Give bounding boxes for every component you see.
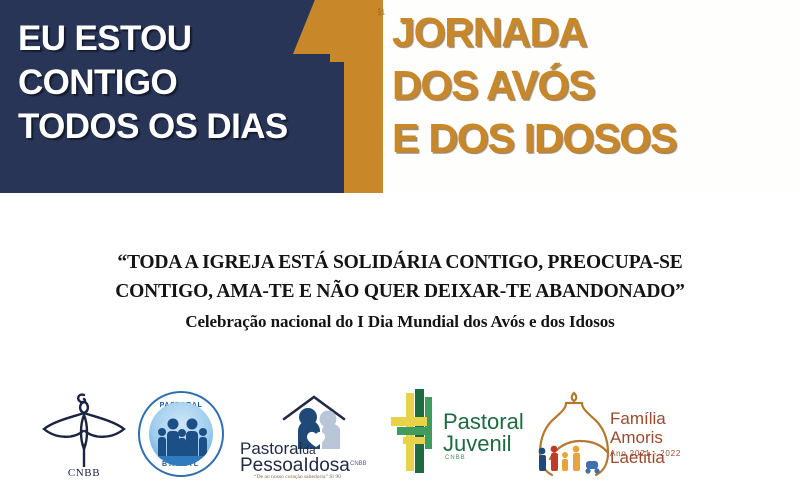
ppi-org: CNBB	[350, 461, 367, 467]
quote-subtitle: Celebração nacional do I Dia Mundial dos…	[0, 312, 800, 332]
ppi-tagline: “De ao nosso coração sabedoria” Sl 90	[254, 474, 341, 480]
title-line-3: E DOS IDOSOS	[392, 112, 800, 165]
cnbb-label: CNBB	[28, 467, 140, 479]
logo-pastoral-pessoa-idosa: Pastoralda PessoaIdosa CNBB “De ao nosso…	[238, 389, 370, 483]
pj-line-2: Juvenil	[443, 431, 511, 457]
poster-root: EU ESTOU CONTIGO TODOS OS DIAS ª JORNADA…	[0, 0, 800, 494]
slogan-line-2: CONTIGO	[18, 61, 338, 105]
pj-org: CNBB	[445, 455, 466, 461]
title-block: JORNADA DOS AVÓS E DOS IDOSOS	[392, 6, 800, 165]
quote-block: “TODA A IGREJA ESTÁ SOLIDÁRIA CONTIGO, P…	[0, 248, 800, 332]
quote-line-2: CONTIGO, AMA-TE E NÃO QUER DEIXAR-TE ABA…	[0, 277, 800, 306]
logo-pastoral-familiar: PASTORAL FAMILIAR BRASIL	[130, 385, 230, 485]
fal-line-1: Família	[610, 409, 666, 429]
logo-cnbb: CNBB	[28, 387, 140, 483]
fal-year: Ano 2021 - 2022	[610, 449, 681, 458]
logo-pastoral-juvenil: Pastoral Juvenil CNBB	[385, 387, 525, 483]
header-banner: EU ESTOU CONTIGO TODOS OS DIAS ª JORNADA…	[0, 0, 800, 193]
juvenil-cross-icon	[385, 387, 441, 473]
title-line-1: JORNADA	[392, 6, 800, 59]
cnbb-dove-cross-icon	[28, 387, 140, 467]
title-line-2: DOS AVÓS	[392, 59, 800, 112]
fal-line-2: Amoris Laetitia	[610, 428, 720, 468]
slogan-line-1: EU ESTOU	[18, 17, 338, 61]
basilica-arc-and-family-icon	[530, 387, 620, 479]
logo-row: CNBB PASTORAL FAMILIAR BRASIL	[0, 383, 800, 487]
pastoral-familiar-ring: PASTORAL FAMILIAR BRASIL	[138, 391, 224, 477]
family-silhouette-icon	[149, 402, 213, 466]
pastoral-familiar-inner-disc	[149, 402, 213, 466]
slogan-block: EU ESTOU CONTIGO TODOS OS DIAS	[18, 17, 338, 149]
title-ordinal: ª	[376, 4, 383, 27]
slogan-line-3: TODOS OS DIAS	[18, 105, 338, 149]
quote-line-1: “TODA A IGREJA ESTÁ SOLIDÁRIA CONTIGO, P…	[0, 248, 800, 277]
logo-familia-amoris-laetitia: Família Amoris Laetitia Ano 2021 - 2022	[530, 387, 720, 483]
